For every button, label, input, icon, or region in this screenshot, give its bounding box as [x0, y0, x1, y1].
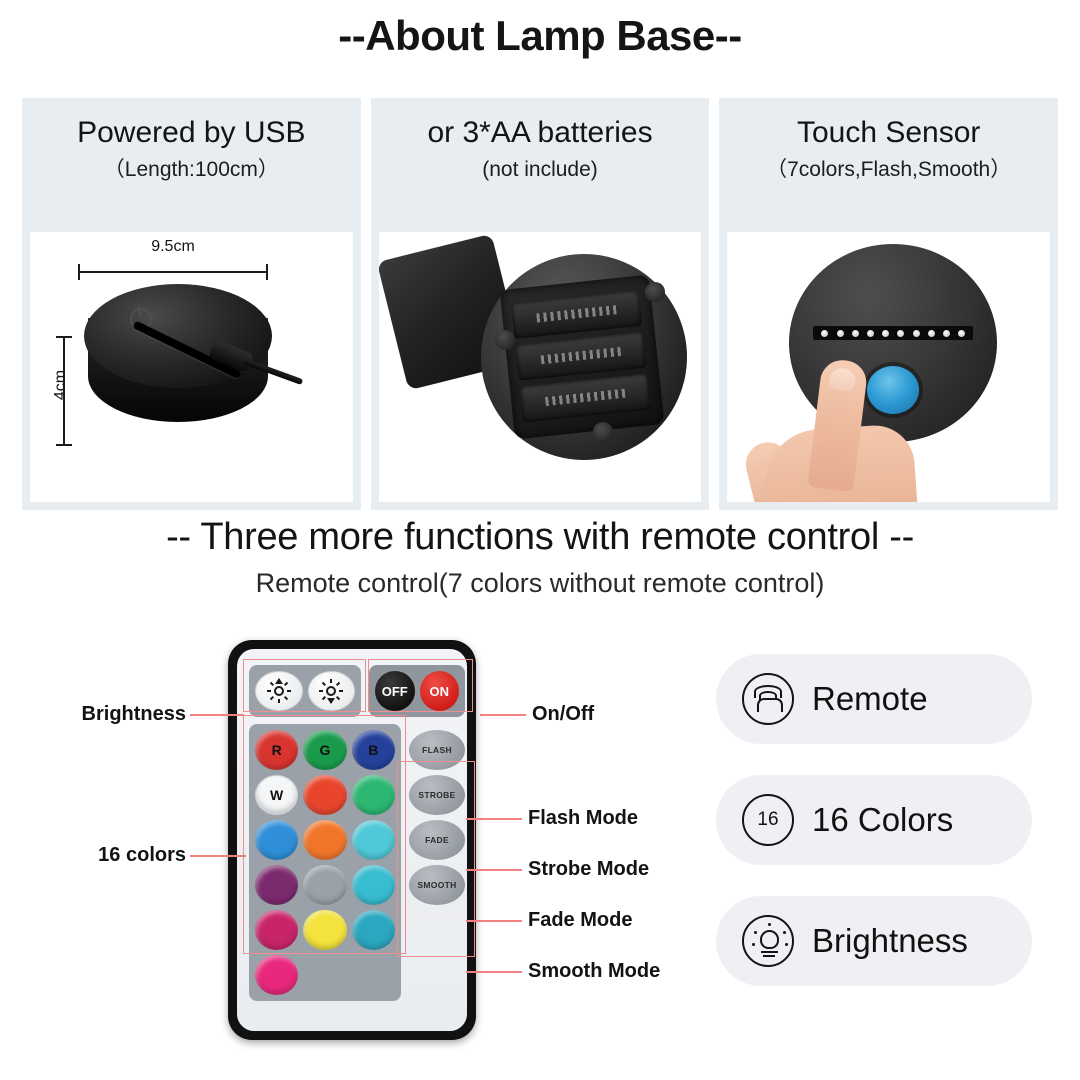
color-button-10[interactable]	[303, 865, 346, 905]
led-dot	[943, 330, 950, 337]
led-dot	[852, 330, 859, 337]
color-button-r[interactable]: R	[255, 730, 298, 770]
remote-icon	[742, 673, 794, 725]
remote-main-grid: RGBW FLASHSTROBEFADESMOOTH	[249, 724, 455, 1001]
pill-16-colors[interactable]: 16 16 Colors	[716, 775, 1032, 865]
color-button-8[interactable]	[352, 820, 395, 860]
led-dot	[897, 330, 904, 337]
battery-base-body	[481, 254, 687, 460]
section-subtitle-remote: Remote control(7 colors without remote c…	[0, 568, 1080, 599]
lamp-base-top	[84, 284, 272, 388]
callout-brightness: Brightness	[76, 703, 186, 726]
leader-line-brightness	[190, 714, 244, 716]
led-strip	[813, 326, 973, 340]
on-button[interactable]: ON	[420, 671, 460, 711]
led-dot	[882, 330, 889, 337]
leader-line-fade	[466, 920, 522, 922]
remote-face: OFF ON RGBW FLASHSTROBEFADESMOOTH	[237, 649, 467, 1031]
dimension-width-bar	[78, 271, 268, 273]
color-button-4[interactable]	[303, 775, 346, 815]
color-button-w[interactable]: W	[255, 775, 298, 815]
mode-button-flash[interactable]: FLASH	[409, 730, 465, 770]
color-button-14[interactable]	[352, 910, 395, 950]
leader-line-smooth	[466, 971, 522, 973]
color-button-11[interactable]	[352, 865, 395, 905]
led-dot	[821, 330, 828, 337]
mode-button-smooth[interactable]: SMOOTH	[409, 865, 465, 905]
feature-pills: Remote 16 16 Colors Brightness	[716, 654, 1032, 986]
panel-title-touch: Touch Sensor	[797, 116, 980, 149]
color-button-g[interactable]: G	[303, 730, 346, 770]
color-button-15[interactable]	[255, 955, 298, 995]
lamp-base-usb-image: 9.5cm 4cm	[30, 232, 353, 502]
color-button-7[interactable]	[303, 820, 346, 860]
touch-sensor-illustration	[727, 232, 1050, 502]
feature-panels: Powered by USB （Length:100cm） 9.5cm 4cm	[22, 98, 1058, 510]
brightness-down-button[interactable]	[308, 671, 356, 711]
dimension-width: 9.5cm	[78, 258, 268, 280]
panel-subtitle-touch: （7colors,Flash,Smooth）	[766, 158, 1011, 181]
dimension-height-label: 4cm	[52, 350, 70, 420]
touch-sensor-button[interactable]	[867, 366, 919, 414]
callout-fade-mode: Fade Mode	[528, 909, 632, 932]
pill-remote[interactable]: Remote	[716, 654, 1032, 744]
leader-line-flash	[466, 818, 522, 820]
callout-16-colors: 16 colors	[90, 844, 186, 867]
led-dot	[958, 330, 965, 337]
panel-powered-by-usb: Powered by USB （Length:100cm） 9.5cm 4cm	[22, 98, 361, 510]
led-dot	[837, 330, 844, 337]
dimension-height: 4cm	[52, 336, 76, 446]
color-button-5[interactable]	[352, 775, 395, 815]
touch-sensor-image	[727, 232, 1050, 502]
callout-strobe-mode: Strobe Mode	[528, 858, 649, 881]
callout-on-off: On/Off	[532, 703, 594, 726]
color-button-9[interactable]	[255, 865, 298, 905]
mode-buttons-pad: FLASHSTROBEFADESMOOTH	[409, 724, 465, 1001]
panel-touch-sensor: Touch Sensor （7colors,Flash,Smooth）	[719, 98, 1058, 510]
sixteen-icon: 16	[742, 794, 794, 846]
color-button-12[interactable]	[255, 910, 298, 950]
pill-label-brightness: Brightness	[812, 922, 968, 960]
color-button-b[interactable]: B	[352, 730, 395, 770]
mode-button-fade[interactable]: FADE	[409, 820, 465, 860]
pill-brightness[interactable]: Brightness	[716, 896, 1032, 986]
remote-control: OFF ON RGBW FLASHSTROBEFADESMOOTH	[228, 640, 476, 1040]
brightness-up-button[interactable]	[255, 671, 303, 711]
battery-compartment	[389, 240, 702, 470]
color-button-6[interactable]	[255, 820, 298, 860]
leader-line-16-colors	[190, 855, 246, 857]
off-button[interactable]: OFF	[375, 671, 415, 711]
remote-top-row: OFF ON	[249, 665, 455, 717]
panel-subtitle-usb: （Length:100cm）	[104, 158, 279, 181]
screw-icon	[593, 422, 613, 442]
battery-slot	[519, 373, 650, 422]
bulb-icon	[742, 915, 794, 967]
color-button-13[interactable]	[303, 910, 346, 950]
panel-title-usb: Powered by USB	[77, 116, 305, 149]
dimension-height-cap-bottom	[56, 444, 72, 446]
screw-icon	[645, 282, 665, 302]
screw-icon	[495, 330, 515, 350]
brightness-pad	[249, 665, 361, 717]
leader-line-strobe	[466, 869, 522, 871]
led-dot	[913, 330, 920, 337]
color-buttons-pad: RGBW	[249, 724, 401, 1001]
brightness-up-icon	[267, 679, 291, 703]
callout-smooth-mode: Smooth Mode	[528, 960, 660, 983]
led-dot	[928, 330, 935, 337]
panel-subtitle-batteries: (not include)	[482, 158, 598, 181]
dimension-height-bar	[63, 336, 65, 446]
dimension-width-label: 9.5cm	[78, 238, 268, 256]
battery-compartment-image	[379, 232, 702, 502]
dimension-width-cap-right	[266, 264, 268, 280]
battery-tray	[499, 275, 664, 440]
battery-slot	[511, 290, 642, 339]
usb-plug	[208, 339, 254, 373]
panel-title-batteries: or 3*AA batteries	[427, 116, 652, 149]
usb-cable	[210, 344, 308, 372]
brightness-down-icon	[319, 679, 343, 703]
power-pad: OFF ON	[369, 665, 465, 717]
dimension-width-cap-left	[78, 264, 80, 280]
mode-button-strobe[interactable]: STROBE	[409, 775, 465, 815]
dimension-height-cap-top	[56, 336, 72, 338]
page-title: --About Lamp Base--	[0, 12, 1080, 60]
panel-aa-batteries: or 3*AA batteries (not include)	[371, 98, 710, 510]
pill-label-remote: Remote	[812, 680, 928, 718]
led-dot	[867, 330, 874, 337]
callout-flash-mode: Flash Mode	[528, 807, 638, 830]
section-title-remote: -- Three more functions with remote cont…	[0, 516, 1080, 559]
leader-line-onoff	[480, 714, 526, 716]
battery-slot	[515, 332, 646, 381]
pill-label-16-colors: 16 Colors	[812, 801, 953, 839]
